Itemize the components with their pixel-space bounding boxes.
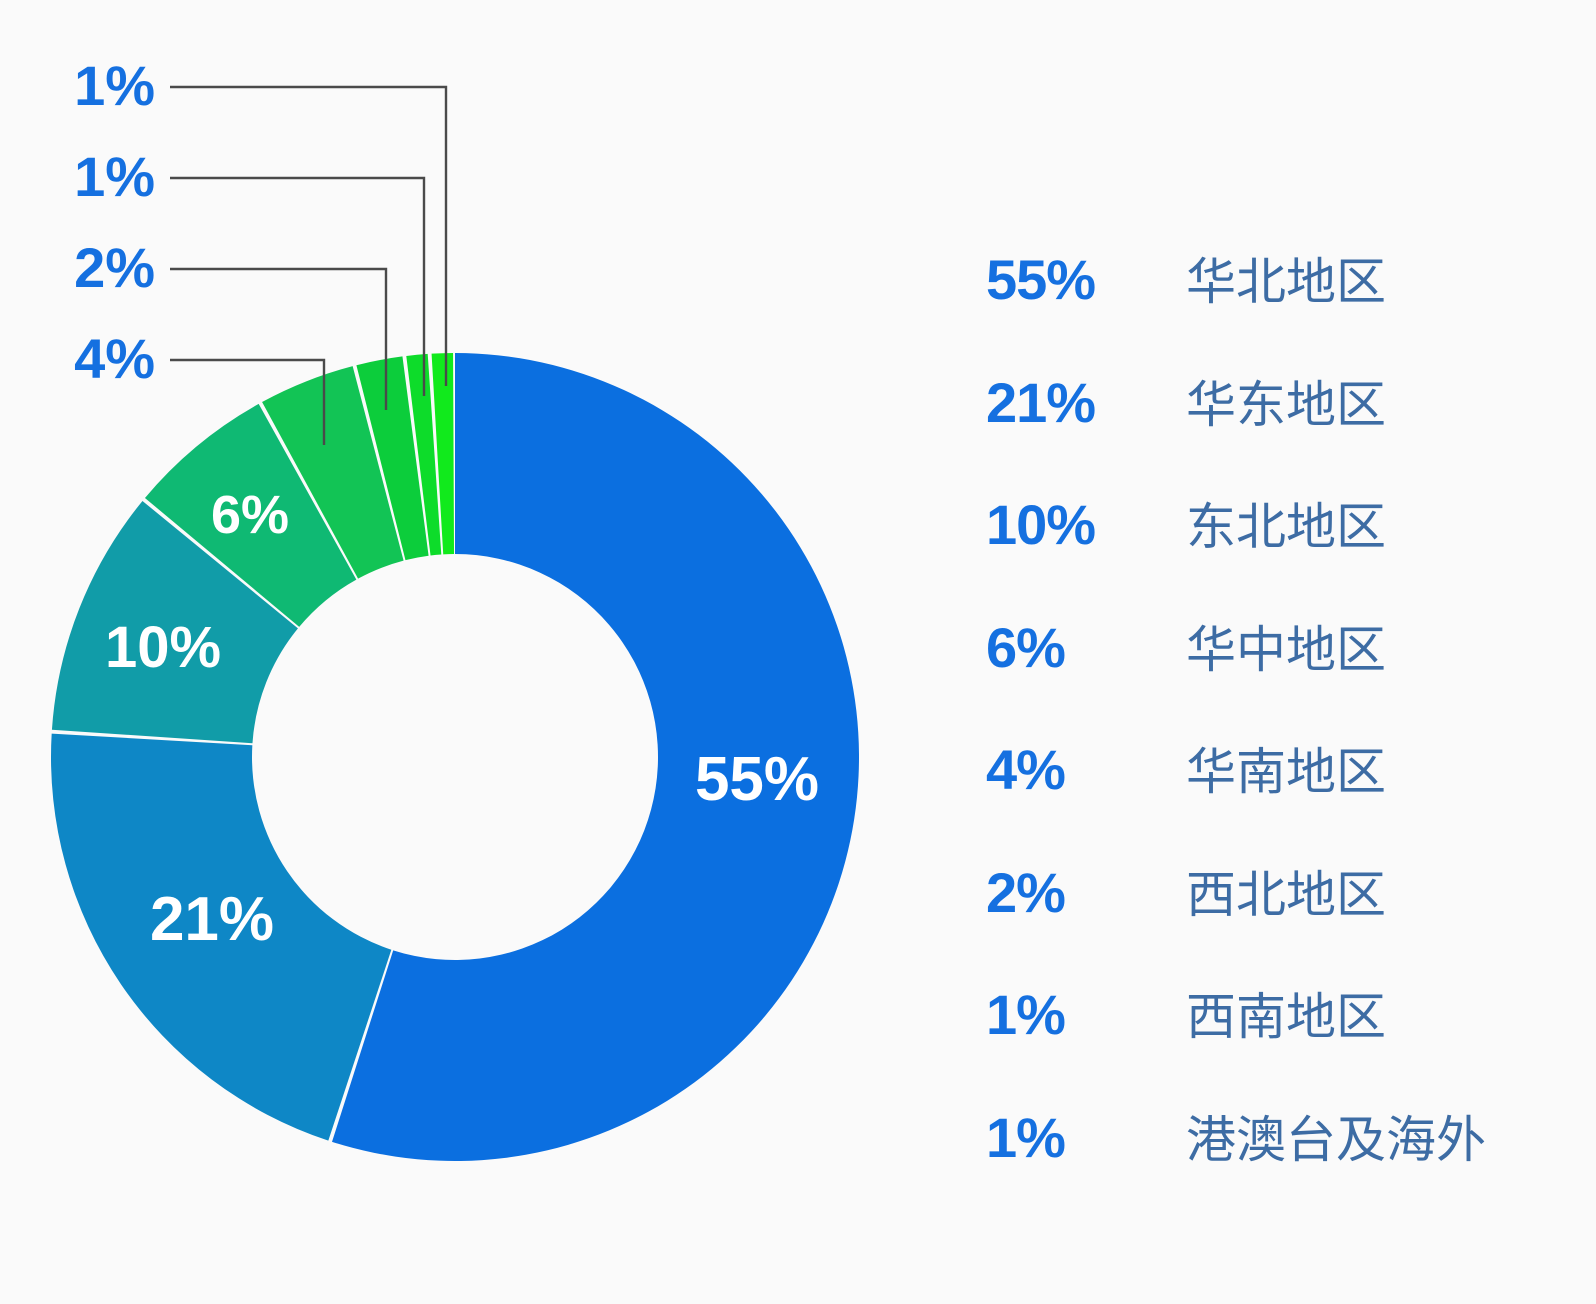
legend-percent: 1% — [986, 987, 1186, 1043]
legend-label: 华中地区 — [1186, 625, 1386, 675]
legend-label: 西南地区 — [1186, 992, 1386, 1042]
legend-label: 华北地区 — [1186, 257, 1386, 307]
legend-label: 东北地区 — [1186, 502, 1386, 552]
slice-value-label: 10% — [105, 615, 221, 680]
legend-row[interactable]: 1%港澳台及海外 — [986, 1110, 1576, 1233]
callout-value-label: 4% — [74, 327, 155, 390]
legend-row[interactable]: 10%东北地区 — [986, 497, 1576, 620]
legend-percent: 1% — [986, 1110, 1186, 1166]
legend-row[interactable]: 55%华北地区 — [986, 252, 1576, 375]
slice-value-label: 55% — [695, 745, 819, 814]
legend-percent: 55% — [986, 252, 1186, 308]
legend-row[interactable]: 6%华中地区 — [986, 620, 1576, 743]
legend-row[interactable]: 1%西南地区 — [986, 987, 1576, 1110]
callout-value-label: 2% — [74, 236, 155, 299]
slice-value-label: 6% — [211, 485, 289, 545]
slice-value-label: 21% — [150, 885, 274, 954]
callout-value-label: 1% — [74, 54, 155, 117]
donut-chart-area: 55%21%10%6% 1%1%2%4% — [0, 0, 920, 1304]
callout-value-label: 1% — [74, 145, 155, 208]
callout-leader-line — [170, 87, 446, 386]
legend-label: 西北地区 — [1186, 870, 1386, 920]
donut-chart-svg: 55%21%10%6% 1%1%2%4% — [0, 0, 920, 1304]
legend-row[interactable]: 4%华南地区 — [986, 742, 1576, 865]
legend-percent: 21% — [986, 375, 1186, 431]
legend-label: 华东地区 — [1186, 380, 1386, 430]
legend-row[interactable]: 21%华东地区 — [986, 375, 1576, 498]
legend-percent: 2% — [986, 865, 1186, 921]
donut-chart-page: 55%21%10%6% 1%1%2%4% 55%华北地区21%华东地区10%东北… — [0, 0, 1596, 1304]
legend-percent: 4% — [986, 742, 1186, 798]
legend-label: 港澳台及海外 — [1186, 1115, 1486, 1165]
legend-label: 华南地区 — [1186, 747, 1386, 797]
legend-row[interactable]: 2%西北地区 — [986, 865, 1576, 988]
legend-percent: 10% — [986, 497, 1186, 553]
legend-percent: 6% — [986, 620, 1186, 676]
chart-legend: 55%华北地区21%华东地区10%东北地区6%华中地区4%华南地区2%西北地区1… — [986, 252, 1576, 1232]
